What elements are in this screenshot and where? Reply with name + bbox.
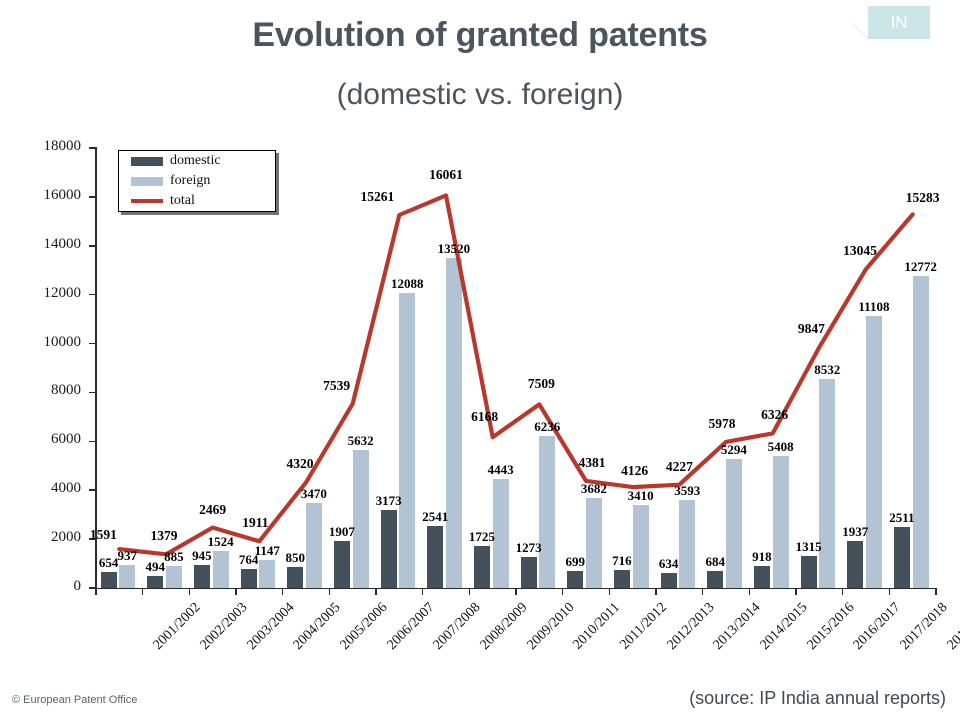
bar-domestic	[334, 541, 350, 588]
legend-label-total: total	[170, 193, 195, 209]
bar-label-domestic: 2511	[872, 510, 932, 526]
x-tick	[515, 588, 517, 595]
x-tick	[795, 588, 797, 595]
total-line	[119, 195, 912, 554]
bar-label-foreign: 13520	[424, 241, 484, 257]
y-tick-label: 8000	[11, 382, 81, 399]
y-tick	[89, 441, 96, 443]
y-tick	[89, 294, 96, 296]
y-tick-label: 4000	[11, 480, 81, 497]
x-tick-label: 2007/2008	[431, 600, 485, 654]
y-tick	[89, 196, 96, 198]
y-tick	[89, 392, 96, 394]
y-tick-label: 6000	[11, 431, 81, 448]
x-tick	[282, 588, 284, 595]
bar-domestic	[147, 576, 163, 588]
bar-domestic	[287, 567, 303, 588]
x-tick-label: 2015/2016	[804, 600, 858, 654]
chart-legend: domestic foreign total	[118, 150, 276, 212]
x-tick	[469, 588, 471, 595]
y-tick-label: 10000	[11, 334, 81, 351]
x-tick	[842, 588, 844, 595]
source-text: (source: IP India annual reports)	[689, 688, 946, 709]
bar-domestic	[194, 565, 210, 588]
bar-foreign	[866, 316, 882, 588]
x-tick-label: 2002/2003	[198, 600, 252, 654]
bar-foreign	[586, 498, 602, 588]
x-tick-label: 2010/2011	[571, 600, 624, 653]
line-label-total: 7539	[307, 378, 367, 394]
bar-label-foreign: 3470	[284, 486, 344, 502]
y-tick-label: 0	[11, 578, 81, 595]
x-tick	[562, 588, 564, 595]
x-tick	[189, 588, 191, 595]
bar-label-domestic: 1937	[825, 524, 885, 540]
y-tick-label: 14000	[11, 236, 81, 253]
line-label-total: 6168	[455, 409, 515, 425]
y-tick-label: 18000	[11, 138, 81, 155]
bar-domestic	[801, 556, 817, 588]
y-tick-label: 16000	[11, 187, 81, 204]
line-label-total: 1911	[225, 515, 285, 531]
legend-item-total: total	[119, 191, 275, 211]
line-label-total: 15283	[893, 190, 953, 206]
bar-domestic	[754, 566, 770, 588]
bar-foreign	[679, 500, 695, 588]
bar-label-foreign: 12088	[377, 276, 437, 292]
bar-foreign	[913, 276, 929, 588]
line-label-total: 5978	[692, 416, 752, 432]
bar-label-foreign: 3593	[657, 483, 717, 499]
line-label-total: 13045	[830, 243, 890, 259]
x-tick	[95, 588, 97, 595]
bar-foreign	[633, 505, 649, 588]
y-tick-label: 2000	[11, 529, 81, 546]
legend-item-foreign: foreign	[119, 171, 275, 191]
x-tick-label: 2003/2004	[244, 600, 298, 654]
x-tick-label: 2011/2012	[617, 600, 670, 653]
bar-domestic	[381, 510, 397, 588]
y-tick	[89, 489, 96, 491]
bar-label-domestic: 1907	[312, 524, 372, 540]
x-tick	[609, 588, 611, 595]
x-tick	[889, 588, 891, 595]
bar-foreign	[773, 456, 789, 588]
y-tick	[89, 147, 96, 149]
chart-canvas: 0200040006000800010000120001400016000180…	[0, 0, 960, 720]
x-tick	[375, 588, 377, 595]
bar-domestic	[521, 557, 537, 588]
x-tick	[935, 588, 937, 595]
bar-label-foreign: 5632	[331, 433, 391, 449]
x-tick-label: 2009/2010	[524, 600, 578, 654]
x-tick-label: 2001/2002	[151, 600, 205, 654]
bar-domestic	[847, 541, 863, 588]
bar-label-domestic: 3173	[359, 493, 419, 509]
bar-domestic	[427, 526, 443, 588]
bar-domestic	[241, 569, 257, 588]
bar-label-foreign: 8532	[797, 362, 857, 378]
line-label-total: 9847	[781, 321, 841, 337]
bar-label-foreign: 5408	[751, 439, 811, 455]
legend-item-domestic: domestic	[119, 151, 275, 171]
bar-label-foreign: 12772	[891, 259, 951, 275]
bar-label-foreign: 11108	[844, 299, 904, 315]
bar-domestic	[614, 570, 630, 588]
bar-domestic	[474, 546, 490, 588]
x-tick-label: 2013/2014	[711, 600, 765, 654]
legend-label-foreign: foreign	[170, 173, 210, 189]
line-label-total: 1591	[73, 527, 133, 543]
x-tick-label: 2012/2013	[664, 600, 718, 654]
x-tick-label: 2008/2009	[478, 600, 532, 654]
bar-domestic	[101, 572, 117, 588]
bar-label-domestic: 2541	[405, 509, 465, 525]
x-tick	[422, 588, 424, 595]
x-tick-label: 2016/2017	[851, 600, 905, 654]
line-label-total: 4227	[649, 459, 709, 475]
bar-foreign	[353, 450, 369, 588]
x-tick	[329, 588, 331, 595]
footer-divider	[0, 672, 960, 673]
x-tick-label: 2005/2006	[338, 600, 392, 654]
line-label-total: 16061	[416, 167, 476, 183]
x-tick	[142, 588, 144, 595]
x-tick-label: 2004/2005	[291, 600, 345, 654]
x-tick	[235, 588, 237, 595]
bar-foreign	[306, 503, 322, 588]
line-label-total: 6326	[745, 407, 805, 423]
bar-label-domestic: 850	[265, 550, 325, 566]
y-tick	[89, 343, 96, 345]
line-label-total: 15261	[347, 189, 407, 205]
bar-label-foreign: 4443	[471, 462, 531, 478]
x-tick-label: 2017/2018	[898, 600, 952, 654]
bar-foreign	[819, 379, 835, 588]
y-tick	[89, 245, 96, 247]
line-label-total: 7509	[511, 376, 571, 392]
line-label-total: 1379	[134, 528, 194, 544]
line-label-total: 4320	[270, 456, 330, 472]
bar-label-domestic: 1315	[779, 539, 839, 555]
bar-domestic	[661, 573, 677, 588]
x-tick	[655, 588, 657, 595]
bar-domestic	[567, 571, 583, 588]
bar-domestic	[707, 571, 723, 588]
bar-domestic	[894, 527, 910, 588]
y-tick-label: 12000	[11, 285, 81, 302]
x-tick-label: 2014/2015	[758, 600, 812, 654]
bar-foreign	[399, 293, 415, 588]
x-tick	[702, 588, 704, 595]
legend-swatch-domestic	[131, 157, 163, 166]
x-tick-label: 2006/2007	[384, 600, 438, 654]
bar-label-foreign: 6236	[517, 419, 577, 435]
legend-swatch-total	[131, 199, 163, 203]
y-axis-line	[95, 147, 97, 589]
copyright-text: © European Patent Office	[12, 694, 137, 706]
legend-swatch-foreign	[131, 177, 163, 186]
x-tick	[749, 588, 751, 595]
legend-label-domestic: domestic	[170, 153, 221, 169]
